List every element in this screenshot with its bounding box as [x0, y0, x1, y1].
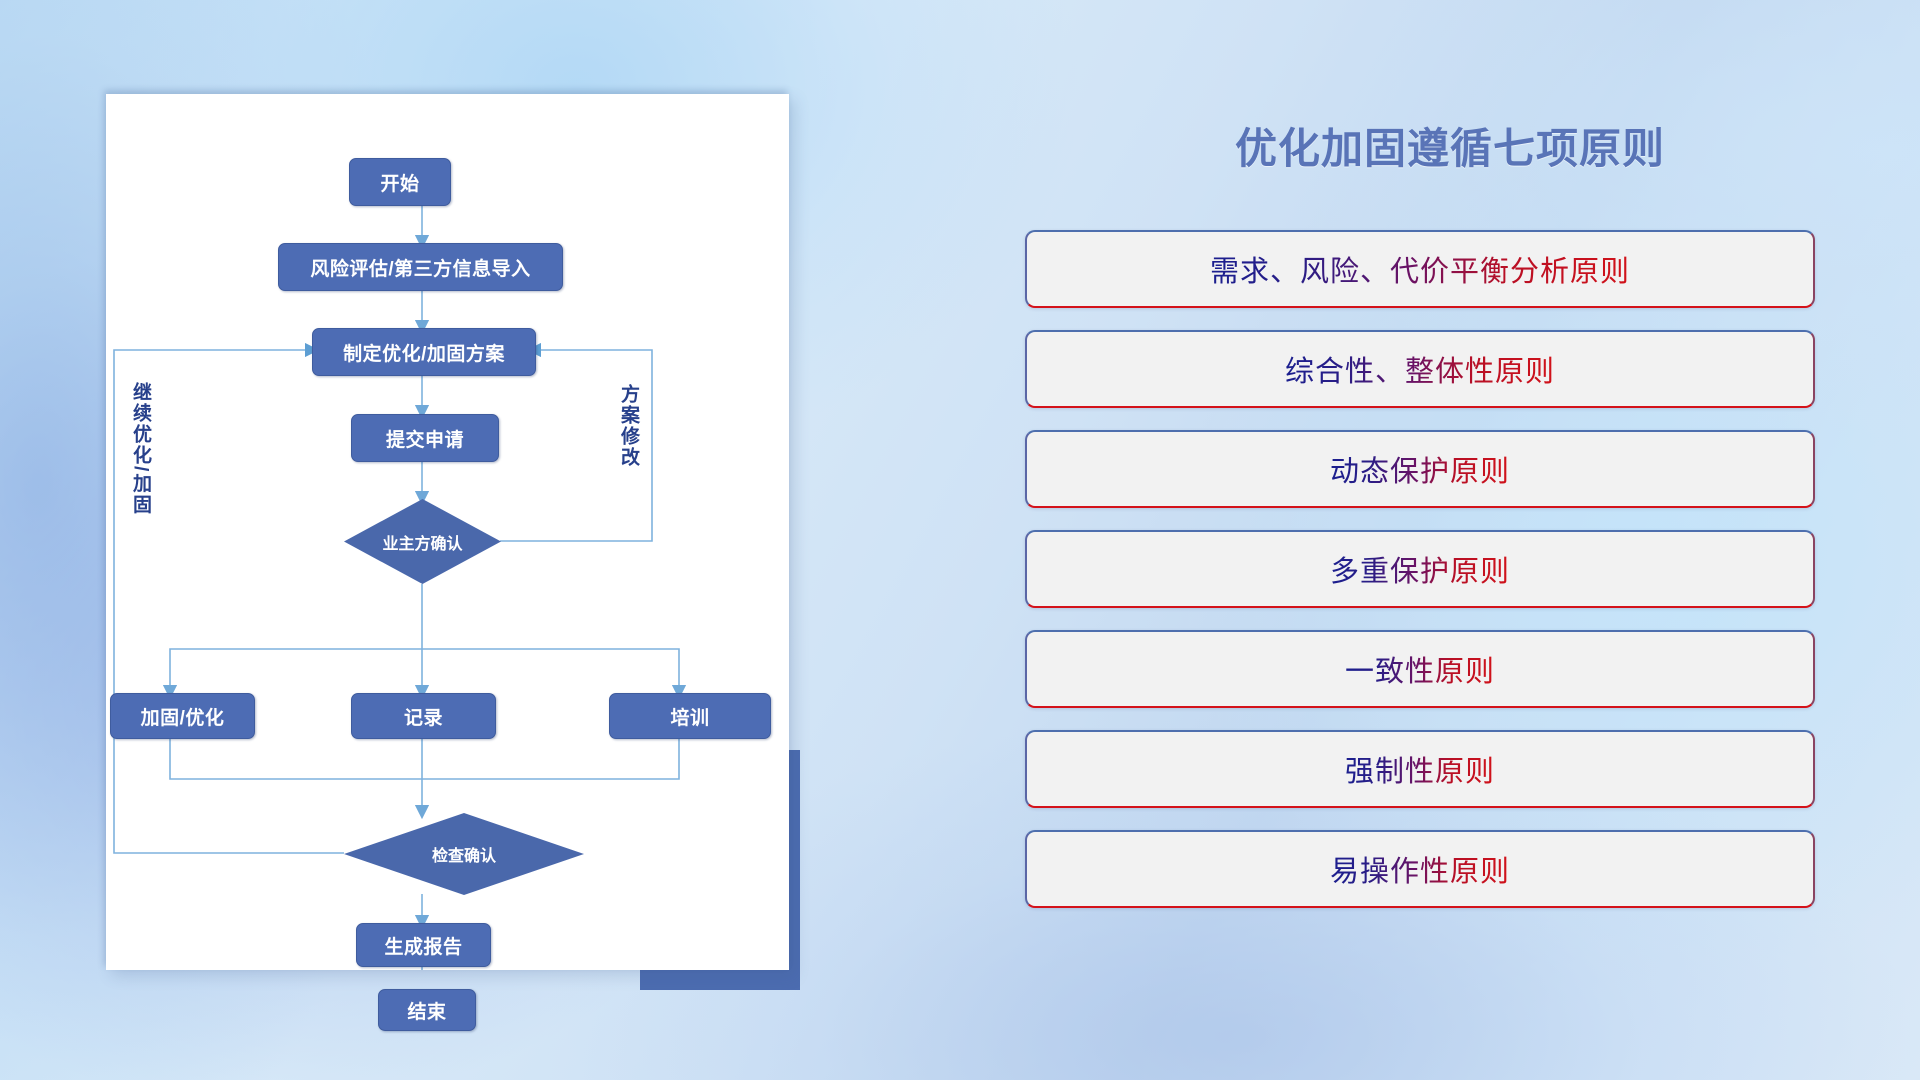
principle-label: 易操作性原则 — [1330, 848, 1510, 890]
principle-item-1[interactable]: 需求、风险、代价平衡分析原则 — [1025, 230, 1815, 308]
flow-node-plan[interactable]: 制定优化/加固方案 — [312, 328, 536, 376]
principle-label: 综合性、整体性原则 — [1285, 348, 1555, 390]
principles-list: 需求、风险、代价平衡分析原则 综合性、整体性原则 动态保护原则 多重保护原则 一… — [1025, 230, 1815, 930]
principle-label: 一致性原则 — [1345, 648, 1495, 690]
principle-item-4[interactable]: 多重保护原则 — [1025, 530, 1815, 608]
flow-node-start[interactable]: 开始 — [349, 158, 451, 206]
principles-panel: 优化加固遵循七项原则 需求、风险、代价平衡分析原则 综合性、整体性原则 动态保护… — [1020, 100, 1850, 980]
principle-item-5[interactable]: 一致性原则 — [1025, 630, 1815, 708]
principle-item-7[interactable]: 易操作性原则 — [1025, 830, 1815, 908]
flow-node-label: 制定优化/加固方案 — [343, 339, 505, 366]
flow-node-label: 风险评估/第三方信息导入 — [310, 254, 530, 281]
principle-item-6[interactable]: 强制性原则 — [1025, 730, 1815, 808]
principle-label: 多重保护原则 — [1330, 548, 1510, 590]
flow-node-training[interactable]: 培训 — [609, 693, 771, 739]
principle-label: 需求、风险、代价平衡分析原则 — [1210, 248, 1630, 290]
flow-node-label: 培训 — [670, 703, 709, 730]
principle-label: 强制性原则 — [1345, 748, 1495, 790]
flow-node-label: 业主方确认 — [382, 530, 462, 554]
principle-label: 动态保护原则 — [1330, 448, 1510, 490]
flow-node-generate-report[interactable]: 生成报告 — [356, 923, 491, 967]
principle-item-3[interactable]: 动态保护原则 — [1025, 430, 1815, 508]
principle-item-2[interactable]: 综合性、整体性原则 — [1025, 330, 1815, 408]
flow-node-label: 检查确认 — [432, 842, 496, 866]
principles-panel-title: 优化加固遵循七项原则 — [1150, 115, 1750, 176]
flow-edge-label-plan-revision: 方案修改 — [618, 384, 638, 468]
flow-node-reinforce-optimize[interactable]: 加固/优化 — [110, 693, 255, 739]
flow-node-label: 记录 — [404, 703, 443, 730]
flow-node-label: 开始 — [380, 169, 419, 196]
flowchart-canvas: 开始 风险评估/第三方信息导入 制定优化/加固方案 提交申请 业主方确认 加固/… — [106, 94, 789, 970]
flow-node-label: 提交申请 — [386, 425, 464, 452]
flow-node-label: 结束 — [407, 997, 446, 1024]
flow-node-risk-assessment[interactable]: 风险评估/第三方信息导入 — [278, 243, 563, 291]
flow-node-end[interactable]: 结束 — [378, 989, 476, 1031]
flow-edge-label-continue-optimize: 继续优化/加固 — [130, 382, 150, 515]
flow-node-label: 生成报告 — [384, 932, 462, 959]
flow-node-submit-application[interactable]: 提交申请 — [351, 414, 499, 462]
flow-node-record[interactable]: 记录 — [351, 693, 496, 739]
flow-node-label: 加固/优化 — [141, 703, 225, 730]
flowchart-card: 开始 风险评估/第三方信息导入 制定优化/加固方案 提交申请 业主方确认 加固/… — [106, 94, 789, 970]
